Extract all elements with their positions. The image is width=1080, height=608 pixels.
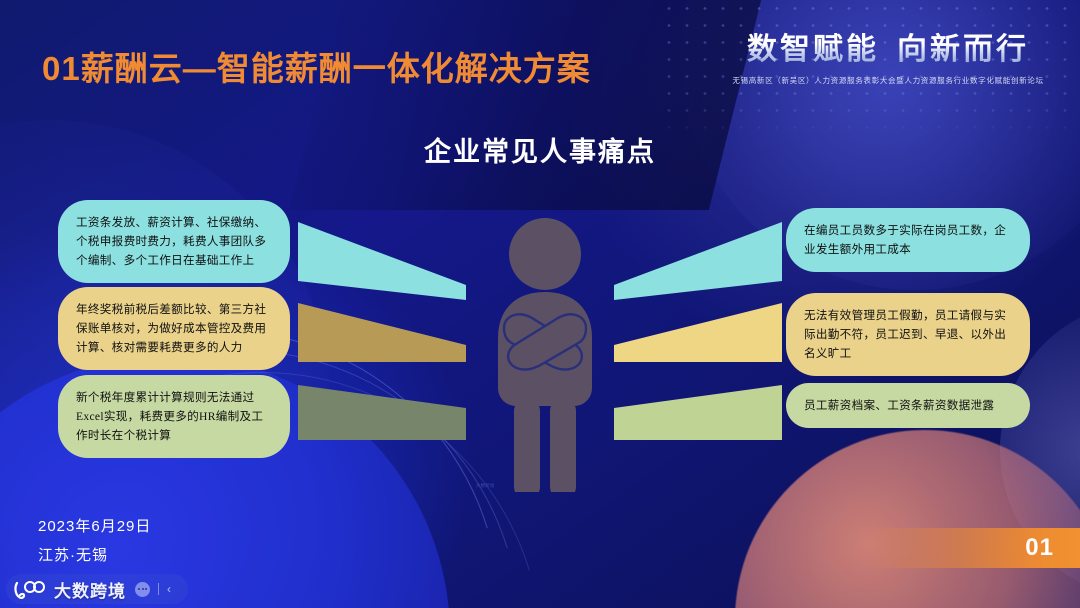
pain-point-left-2-text: 年终奖税前税后差额比较、第三方社保账单核对，为做好成本管控及费用计算、核对需要耗…: [76, 303, 266, 354]
page-number-badge: 01: [865, 528, 1080, 568]
person-leg-left: [514, 398, 540, 492]
watermark-bar: 大数跨境 ‹: [6, 574, 188, 604]
pain-point-right-3-text: 员工薪资档案、工资条薪资数据泄露: [804, 399, 994, 412]
event-date: 2023年6月29日: [38, 515, 151, 536]
event-location: 江苏·无锡: [38, 544, 108, 565]
pain-point-left-3: 新个税年度累计计算规则无法通过Excel实现，耗费更多的HR编制及工作时长在个税…: [58, 375, 290, 458]
pain-point-left-2: 年终奖税前税后差额比较、第三方社保账单核对，为做好成本管控及费用计算、核对需要耗…: [58, 287, 290, 370]
pain-point-right-1: 在编员工员数多于实际在岗员工数，企业发生额外用工成本: [786, 208, 1030, 272]
page-number-text: 01: [1025, 534, 1054, 562]
pain-point-right-1-text: 在编员工员数多于实际在岗员工数，企业发生额外用工成本: [804, 224, 1006, 256]
watermark-label: 大数跨境: [54, 577, 126, 602]
pain-point-left-3-text: 新个税年度累计计算规则无法通过Excel实现，耗费更多的HR编制及工作时长在个税…: [76, 391, 263, 442]
funnel-left-3: [298, 385, 466, 440]
person-head: [509, 218, 581, 290]
figure-watermark-text: 大数跨境: [476, 483, 494, 489]
funnel-left-1: [298, 222, 466, 300]
pain-point-left-1-text: 工资条发放、薪资计算、社保缴纳、个税申报费时费力，耗费人事团队多个编制、多个工作…: [76, 216, 266, 267]
slide-canvas: 01薪酬云—智能薪酬一体化解决方案 数智赋能向新而行 无锡高新区（新吴区）人力资…: [0, 0, 1080, 608]
chevron-left-icon[interactable]: ‹: [167, 583, 171, 595]
pain-point-right-2: 无法有效管理员工假勤，员工请假与实际出勤不符，员工迟到、早退、以外出名义旷工: [786, 293, 1030, 376]
funnel-right-1: [614, 222, 782, 300]
pain-point-left-1: 工资条发放、薪资计算、社保缴纳、个税申报费时费力，耗费人事团队多个编制、多个工作…: [58, 200, 290, 283]
watermark-divider: [158, 583, 159, 595]
more-options-icon[interactable]: [135, 582, 150, 597]
person-illustration: [470, 212, 620, 492]
funnel-left-2: [298, 303, 466, 362]
funnel-right-2: [614, 303, 782, 362]
person-leg-right: [550, 398, 576, 492]
funnel-right-3: [614, 385, 782, 440]
brand-logo-icon: [14, 579, 48, 599]
pain-point-right-2-text: 无法有效管理员工假勤，员工请假与实际出勤不符，员工迟到、早退、以外出名义旷工: [804, 309, 1006, 360]
pain-point-right-3: 员工薪资档案、工资条薪资数据泄露: [786, 383, 1030, 428]
